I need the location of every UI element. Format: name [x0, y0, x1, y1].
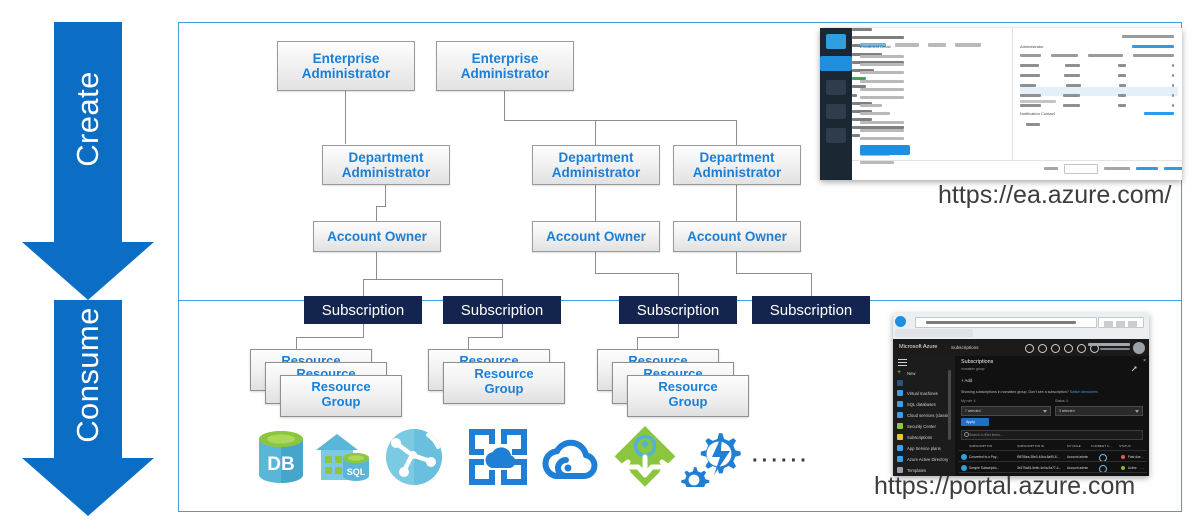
- svg-text:DB: DB: [267, 454, 294, 475]
- connector: [504, 91, 505, 121]
- connector: [678, 324, 679, 338]
- sql-data-warehouse-icon: SQL: [312, 428, 372, 491]
- connector: [376, 252, 377, 280]
- node-subscription-2[interactable]: Subscription: [443, 296, 561, 324]
- node-label: DepartmentAdministrator: [338, 150, 435, 180]
- node-subscription-1[interactable]: Subscription: [304, 296, 422, 324]
- ea-column-divider: [1012, 28, 1013, 160]
- connector: [296, 337, 364, 338]
- portal-url-caption: https://portal.azure.com: [874, 472, 1135, 501]
- connector: [736, 273, 812, 274]
- connector: [296, 337, 297, 349]
- row-menu-icon[interactable]: ···: [1140, 455, 1144, 460]
- arrow-head: [22, 242, 154, 300]
- phase-arrow-create: Create: [22, 22, 154, 300]
- ea-portal-screenshot[interactable]: Enrollment Detail Administrator: [820, 28, 1182, 180]
- scrollbar[interactable]: [948, 370, 951, 440]
- ea-footer-copyright: [1104, 167, 1130, 170]
- portal-top-bar: Microsoft Azure Subscriptions: [893, 339, 1149, 356]
- table-header-subscription: SUBSCRIPTION: [969, 444, 992, 448]
- node-enterprise-administrator-2[interactable]: EnterpriseAdministrator: [436, 41, 574, 91]
- hamburger-icon[interactable]: [898, 359, 907, 366]
- status-dot: [1121, 466, 1125, 470]
- connector: [376, 206, 386, 207]
- connector: [363, 324, 364, 338]
- arrow-shaft: [54, 300, 122, 458]
- ea-contact-value: [1026, 123, 1040, 126]
- node-label: Subscription: [770, 302, 853, 319]
- browser-back-icon[interactable]: [895, 316, 906, 327]
- node-subscription-3[interactable]: Subscription: [619, 296, 737, 324]
- node-label: ResourceGroup: [311, 379, 370, 409]
- phase-arrow-consume: Consume: [22, 300, 154, 515]
- node-department-administrator-2[interactable]: DepartmentAdministrator: [532, 145, 660, 185]
- node-label: Subscription: [637, 302, 720, 319]
- diagram-canvas: Create Consume EnterpriseAdmi: [0, 0, 1200, 529]
- connector: [811, 273, 812, 296]
- avatar[interactable]: [1133, 342, 1145, 354]
- ea-url-caption: https://ea.azure.com/: [938, 181, 1171, 210]
- connector: [595, 120, 596, 145]
- ea-footer-trademarks[interactable]: [1136, 167, 1158, 170]
- sidebar-icon-download[interactable]: [826, 104, 846, 119]
- ea-see-related-accounts-button[interactable]: [860, 145, 910, 155]
- node-account-owner-1[interactable]: Account Owner: [313, 221, 441, 252]
- node-label: Subscription: [461, 302, 544, 319]
- connector: [363, 279, 364, 296]
- table-header-my-role: MY ROLE: [1067, 444, 1081, 448]
- sql-database-icon: DB: [253, 428, 309, 491]
- cdn-globe-icon: [384, 427, 444, 492]
- portal-brand[interactable]: Microsoft Azure: [899, 344, 938, 350]
- portal-blade: Subscriptions nomattex group × + Add Sho…: [955, 356, 1149, 476]
- ea-portal-content: Enrollment Detail Administrator: [852, 28, 1182, 180]
- blade-subtitle: nomattex group: [961, 367, 985, 371]
- ea-portal-tabs[interactable]: [860, 34, 990, 40]
- arrow-shaft: [54, 22, 122, 242]
- ea-footer-support[interactable]: [1044, 167, 1058, 170]
- status-dot: [1121, 455, 1125, 459]
- search-filter-input[interactable]: Search to filter items...: [961, 430, 1143, 440]
- ea-add-contact-link[interactable]: [1144, 112, 1174, 115]
- browser-chrome: [893, 313, 1149, 339]
- table-header-status: STATUS: [1119, 444, 1131, 448]
- add-subscription-button[interactable]: + Add: [961, 378, 972, 383]
- sidebar-icon-console[interactable]: [826, 34, 846, 49]
- ea-admin-rows[interactable]: [1020, 64, 1174, 114]
- ea-section-administrator: Administrator: [1020, 44, 1044, 49]
- row-menu-icon[interactable]: ···: [1140, 466, 1144, 471]
- sidebar-icon-help[interactable]: [826, 128, 846, 143]
- node-label: Account Owner: [683, 229, 791, 244]
- connector: [595, 273, 679, 274]
- filter-select-status[interactable]: 3 selected: [1055, 406, 1143, 416]
- connector: [736, 120, 737, 145]
- node-resource-group-1c[interactable]: ResourceGroup: [280, 375, 402, 417]
- ea-section-notification-contact: Notification Contact: [1020, 111, 1055, 116]
- settings-icon[interactable]: [1064, 344, 1073, 353]
- portal-account-name[interactable]: [1088, 343, 1130, 346]
- table-header-subscription-id: SUBSCRIPTION ID: [1017, 444, 1044, 448]
- node-department-administrator-1[interactable]: DepartmentAdministrator: [322, 145, 450, 185]
- ea-footer-language-select[interactable]: [1064, 164, 1098, 174]
- connector: [637, 337, 638, 349]
- search-icon[interactable]: [1025, 344, 1034, 353]
- ea-footer-privacy[interactable]: [1164, 167, 1182, 170]
- subscription-icon: [961, 465, 967, 471]
- connector: [678, 273, 679, 296]
- filter-label-my-role: My role ①: [961, 399, 976, 403]
- connector: [595, 252, 596, 274]
- ea-section-enrollment-detail: Enrollment Detail: [860, 44, 890, 49]
- cloud-service-icon: [540, 432, 604, 489]
- filter-label-status: Status ①: [1055, 399, 1069, 403]
- node-label: ResourceGroup: [474, 366, 533, 396]
- ea-portal-sidebar: [820, 28, 852, 180]
- close-icon[interactable]: ×: [1143, 359, 1146, 364]
- ea-account-label: [1122, 35, 1174, 38]
- ea-footer-divider: [852, 160, 1182, 161]
- filter-icon[interactable]: [1038, 344, 1047, 353]
- connector: [345, 91, 346, 143]
- node-enterprise-administrator-1[interactable]: EnterpriseAdministrator: [277, 41, 415, 91]
- kubernetes-service-icon: [614, 426, 676, 493]
- portal-nav-panel: + New Virtual machines SQL databases: [893, 356, 955, 476]
- arrow-head: [22, 458, 154, 516]
- connector: [385, 185, 386, 207]
- node-label: Subscription: [322, 302, 405, 319]
- browser-address-bar[interactable]: [915, 317, 1097, 328]
- node-label: ResourceGroup: [658, 379, 717, 409]
- subscription-icon: [961, 454, 967, 460]
- node-label: EnterpriseAdministrator: [298, 51, 395, 81]
- node-label: Account Owner: [323, 229, 431, 244]
- portal-breadcrumb: Subscriptions: [951, 345, 979, 350]
- ea-admin-table: [1020, 54, 1174, 64]
- connector: [468, 337, 503, 338]
- svg-text:SQL: SQL: [347, 467, 366, 477]
- connector: [736, 185, 737, 221]
- node-subscription-4[interactable]: Subscription: [752, 296, 870, 324]
- apply-filter-button[interactable]: Apply: [961, 418, 989, 426]
- blade-notice: Showing subscriptions in nomattex group.…: [961, 390, 1098, 394]
- ea-add-administrator-link[interactable]: [1132, 45, 1174, 48]
- cloud-shell-icon[interactable]: [1051, 344, 1060, 353]
- node-label: Account Owner: [542, 229, 650, 244]
- search-icon: [964, 432, 969, 437]
- connector: [376, 206, 377, 221]
- connector: [502, 279, 503, 296]
- browser-tab[interactable]: [895, 329, 973, 337]
- connector: [468, 337, 469, 349]
- connector: [363, 279, 503, 280]
- node-label: EnterpriseAdministrator: [457, 51, 554, 81]
- node-label: DepartmentAdministrator: [548, 150, 645, 180]
- node-account-owner-3[interactable]: Account Owner: [673, 221, 801, 252]
- ea-admin-table-header: [1020, 54, 1174, 64]
- portal-body: + New Virtual machines SQL databases: [893, 356, 1149, 476]
- portal-account-directory: [1100, 348, 1130, 350]
- sidebar-icon-reports[interactable]: [826, 80, 846, 95]
- connector: [595, 185, 596, 221]
- logic-apps-gears-icon: [681, 429, 743, 492]
- azure-portal-screenshot[interactable]: Microsoft Azure Subscriptions + Ne: [893, 313, 1149, 476]
- blade-title: Subscriptions: [961, 359, 993, 365]
- connector: [502, 324, 503, 338]
- node-resource-group-2b[interactable]: ResourceGroup: [443, 362, 565, 404]
- window-controls[interactable]: [1101, 315, 1145, 322]
- ea-pagination[interactable]: [1020, 100, 1056, 103]
- connector: [736, 252, 737, 274]
- sidebar-icon-manage[interactable]: [820, 56, 852, 71]
- pin-icon[interactable]: [1131, 359, 1137, 365]
- node-account-owner-2[interactable]: Account Owner: [532, 221, 660, 252]
- feedback-icon[interactable]: [1077, 344, 1086, 353]
- table-header-current-cost: CURRENT C...: [1091, 444, 1112, 448]
- node-department-administrator-3[interactable]: DepartmentAdministrator: [673, 145, 801, 185]
- azure-cloud-services-icon: [468, 428, 530, 491]
- more-services-ellipsis: ······: [752, 450, 810, 473]
- node-label: DepartmentAdministrator: [689, 150, 786, 180]
- filter-select-my-role[interactable]: 7 selected: [961, 406, 1051, 416]
- connector: [637, 337, 679, 338]
- node-resource-group-3c[interactable]: ResourceGroup: [627, 375, 749, 417]
- connector: [504, 120, 737, 121]
